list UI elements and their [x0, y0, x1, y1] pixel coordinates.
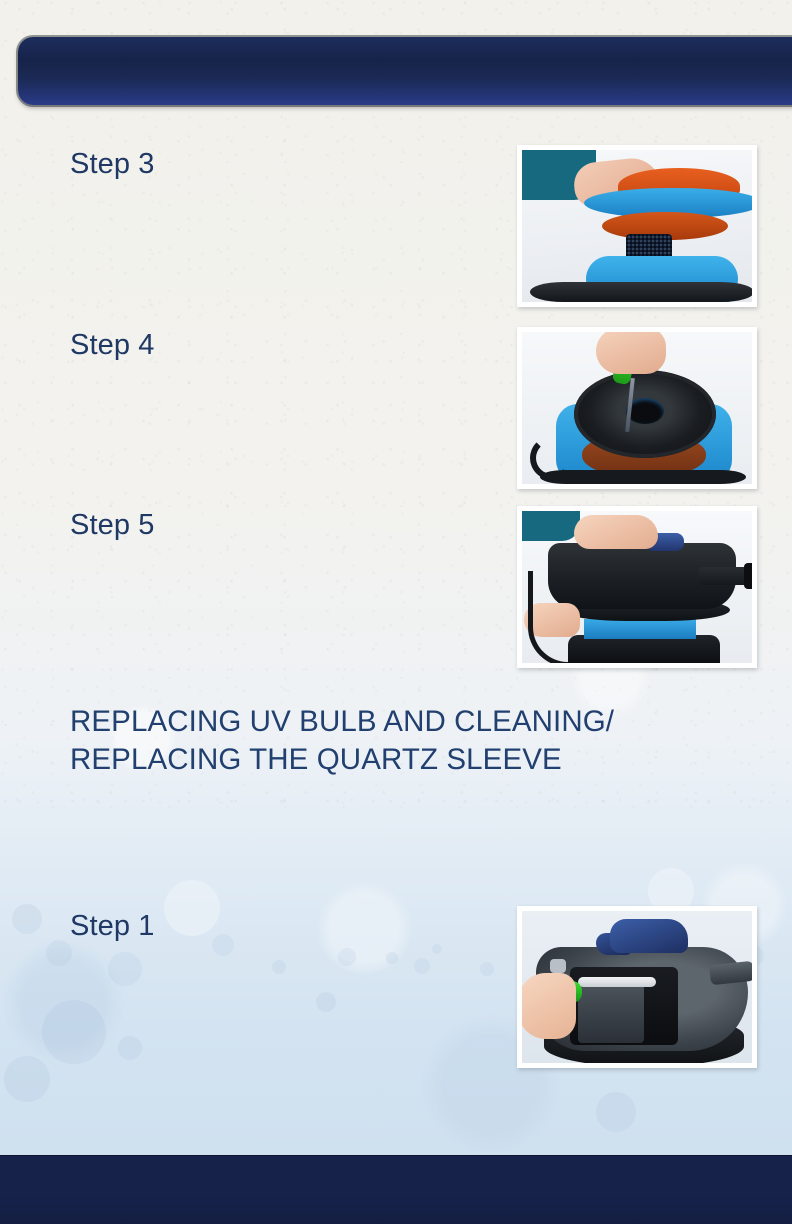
screwdriver-on-uv-housing-photo	[517, 906, 757, 1068]
foam-filter-pads-stack-photo	[517, 145, 757, 307]
lifting-filter-lid-photo	[517, 506, 757, 668]
filter-canister-shape	[568, 635, 720, 663]
hand-shape-upper	[574, 515, 658, 549]
step-label-4: Step 4	[70, 329, 154, 362]
filter-base-shape	[540, 470, 746, 484]
photo-canvas	[522, 911, 752, 1063]
screwdriver-on-filter-plate-photo	[517, 327, 757, 489]
slide-content: Step 3 Step 4 Step 5 REPLACING UV BULB A…	[0, 0, 792, 1224]
clamp-knob-shape	[550, 959, 566, 973]
photo-canvas	[522, 511, 752, 663]
section-heading-line-2: REPLACING THE QUARTZ SLEEVE	[70, 741, 710, 779]
blue-handle-shape	[610, 919, 688, 953]
photo-canvas	[522, 150, 752, 302]
outlet-spout-shape	[709, 961, 752, 985]
hand-shape	[522, 973, 576, 1039]
section-heading-line-1: REPLACING UV BULB AND CLEANING/	[70, 703, 710, 741]
slide-footer-bar	[0, 1155, 792, 1224]
filter-base-shape	[530, 282, 752, 302]
step-label-1: Step 1	[70, 910, 154, 943]
photo-canvas	[522, 332, 752, 484]
power-cord-shape	[528, 571, 568, 663]
slide-canvas: Step 3 Step 4 Step 5 REPLACING UV BULB A…	[0, 0, 792, 1224]
blue-foam-shape	[584, 619, 696, 639]
uv-bay-faceplate-shape	[578, 983, 644, 1043]
spout-cap-shape	[744, 563, 752, 589]
step-label-3: Step 3	[70, 148, 154, 181]
section-heading: REPLACING UV BULB AND CLEANING/ REPLACIN…	[70, 703, 710, 779]
sleeve-shape	[522, 511, 580, 541]
quartz-sleeve-shape	[578, 977, 656, 987]
hand-shape	[596, 332, 666, 374]
step-label-5: Step 5	[70, 509, 154, 542]
